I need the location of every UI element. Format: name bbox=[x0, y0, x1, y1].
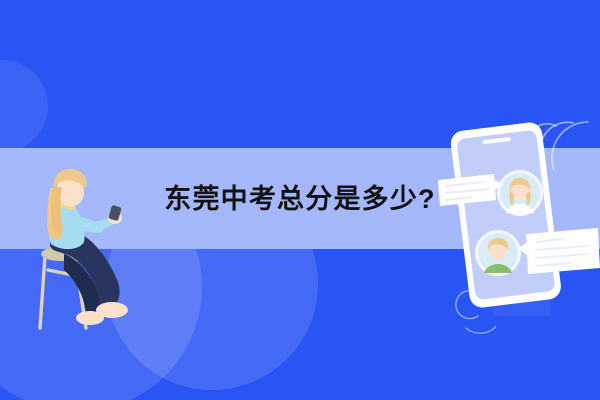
phone-frame bbox=[449, 121, 562, 309]
shoe-near bbox=[96, 302, 128, 318]
smartphone-chat-illustration bbox=[438, 118, 600, 330]
chat-bubble-right bbox=[518, 228, 600, 274]
banner: 东莞中考总分是多少? bbox=[0, 0, 600, 400]
corner-arc-decoration bbox=[0, 60, 48, 152]
page-title: 东莞中考总分是多少? bbox=[0, 183, 600, 215]
avatar-bottom bbox=[475, 230, 521, 276]
